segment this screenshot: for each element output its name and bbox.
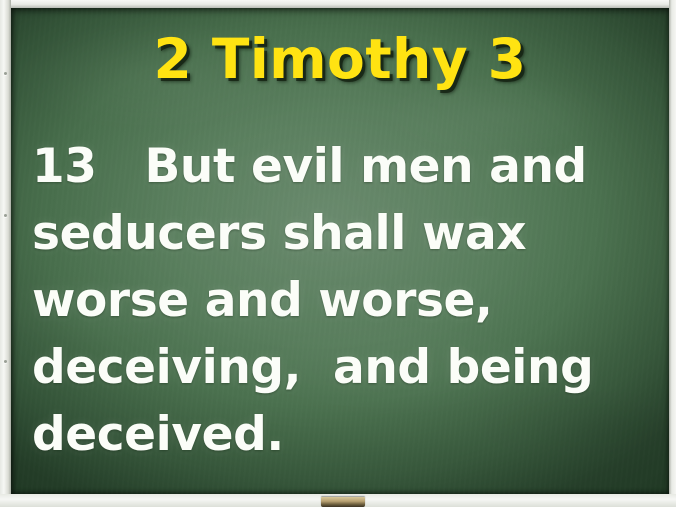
frame-left-rail (0, 0, 11, 507)
frame-screw-icon (4, 72, 7, 75)
verse-line-2: seducers shall wax (32, 200, 659, 267)
verse-line-3: worse and worse, (32, 267, 659, 334)
verse-line-4: deceiving, and being (32, 334, 659, 401)
frame-right-rail (669, 0, 676, 507)
frame-top-rail (0, 0, 676, 8)
verse-line-1: 13 But evil men and (32, 133, 659, 200)
frame-screw-icon (4, 360, 7, 363)
verse-body: 13 But evil men and seducers shall wax w… (32, 133, 659, 468)
verse-line-5: deceived. (32, 401, 659, 468)
chalkboard-surface: 2 Timothy 3 13 But evil men and seducers… (11, 8, 669, 494)
chalk-eraser-icon (321, 497, 365, 507)
slide-title: 2 Timothy 3 (11, 28, 669, 90)
chalkboard-slide: 2 Timothy 3 13 But evil men and seducers… (0, 0, 676, 507)
frame-screw-icon (4, 214, 7, 217)
chalkboard-content: 2 Timothy 3 13 But evil men and seducers… (11, 8, 669, 494)
